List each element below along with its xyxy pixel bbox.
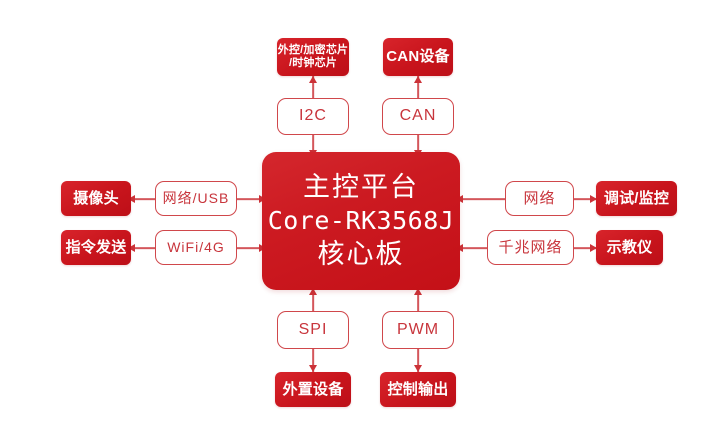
connector-gigabit-to-core: [456, 241, 488, 255]
node-can-device[interactable]: CAN设备: [383, 38, 453, 76]
node-interface-network-usb[interactable]: 网络/USB: [155, 181, 237, 216]
connector-can-to-can-device: [411, 76, 425, 98]
node-interface-wifi-4g[interactable]: WiFi/4G: [155, 230, 237, 265]
node-debug-monitor[interactable]: 调试/监控: [596, 181, 677, 216]
connector-gigabit-to-teach-pendant: [573, 241, 597, 255]
connector-network-to-debug-monitor: [573, 192, 597, 206]
node-interface-gigabit-network[interactable]: 千兆网络: [487, 230, 574, 265]
core-title-cn-top: 主控平台: [303, 170, 419, 205]
node-interface-network[interactable]: 网络: [505, 181, 574, 216]
node-interface-i2c[interactable]: I2C: [277, 98, 349, 135]
node-interface-can[interactable]: CAN: [382, 98, 454, 135]
node-core-platform[interactable]: 主控平台 Core-RK3568J 核心板: [262, 152, 460, 290]
core-title-model: Core-RK3568J: [268, 205, 455, 238]
node-interface-spi[interactable]: SPI: [277, 311, 349, 349]
node-interface-pwm[interactable]: PWM: [382, 311, 454, 349]
node-external-device[interactable]: 外置设备: [275, 372, 351, 407]
arrowhead-down-icon: [414, 365, 422, 372]
connector-spi-to-core: [306, 288, 320, 311]
arrowhead-up-icon: [414, 76, 422, 83]
connector-i2c-to-crypto-chip: [306, 76, 320, 98]
connector-pwm-to-core: [411, 288, 425, 311]
arrowhead-up-icon: [309, 76, 317, 83]
connector-pwm-to-control-output: [411, 349, 425, 372]
connector-wifi4g-to-command-send: [128, 241, 156, 255]
core-title-cn-bottom: 核心板: [318, 237, 405, 272]
node-control-output[interactable]: 控制输出: [380, 372, 456, 407]
node-command-send[interactable]: 指令发送: [61, 230, 131, 265]
node-camera[interactable]: 摄像头: [61, 181, 131, 216]
connector-netusb-to-camera: [128, 192, 156, 206]
connector-network-to-core: [456, 192, 506, 206]
node-crypto-clock-chip[interactable]: 外控/加密芯片 /时钟芯片: [277, 38, 349, 76]
arrowhead-down-icon: [309, 365, 317, 372]
block-diagram-canvas: 外控/加密芯片 /时钟芯片 CAN设备 I2C CAN 主控平台 Core-RK…: [0, 0, 711, 430]
connector-line: [456, 198, 506, 200]
connector-spi-to-external-device: [306, 349, 320, 372]
node-teach-pendant[interactable]: 示教仪: [596, 230, 663, 265]
